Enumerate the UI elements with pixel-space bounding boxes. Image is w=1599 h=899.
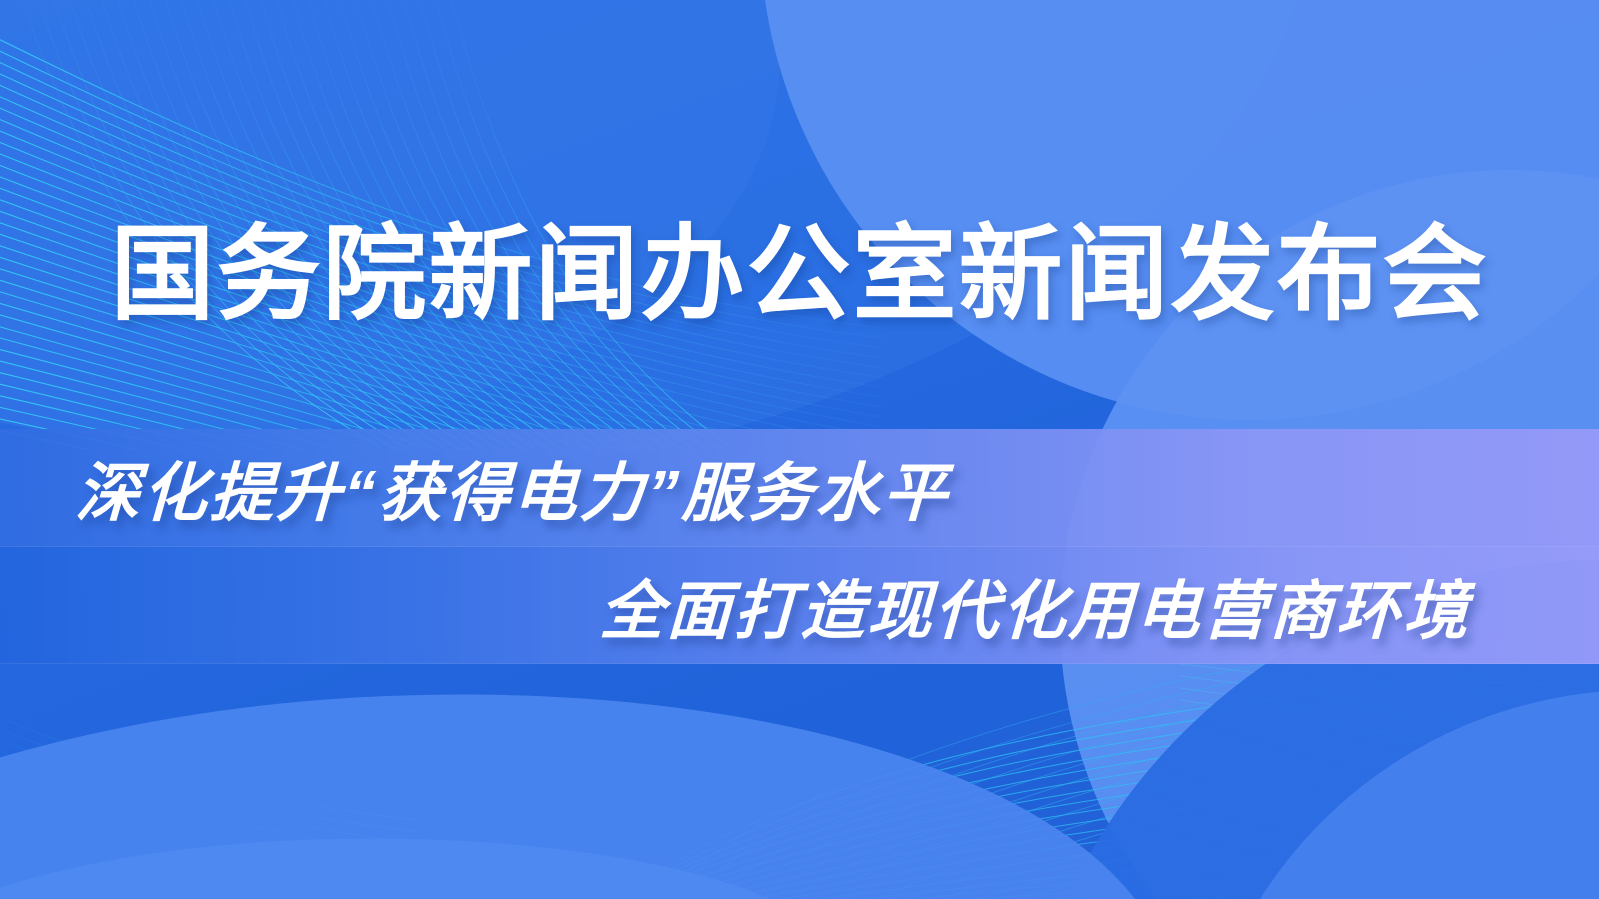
- page-title: 国务院新闻办公室新闻发布会: [110, 222, 1488, 328]
- subtitle-line-1: 深化提升“获得电力”服务水平: [74, 442, 951, 534]
- subtitle-band-primary: 深化提升“获得电力”服务水平: [0, 429, 1599, 547]
- poster-banner: 国务院新闻办公室新闻发布会 深化提升“获得电力”服务水平 全面打造现代化用电营商…: [0, 0, 1599, 899]
- title-row: 国务院新闻办公室新闻发布会: [0, 222, 1599, 328]
- subtitle-band-secondary: 全面打造现代化用电营商环境: [0, 547, 1599, 664]
- subtitle-line-2: 全面打造现代化用电营商环境: [598, 560, 1472, 652]
